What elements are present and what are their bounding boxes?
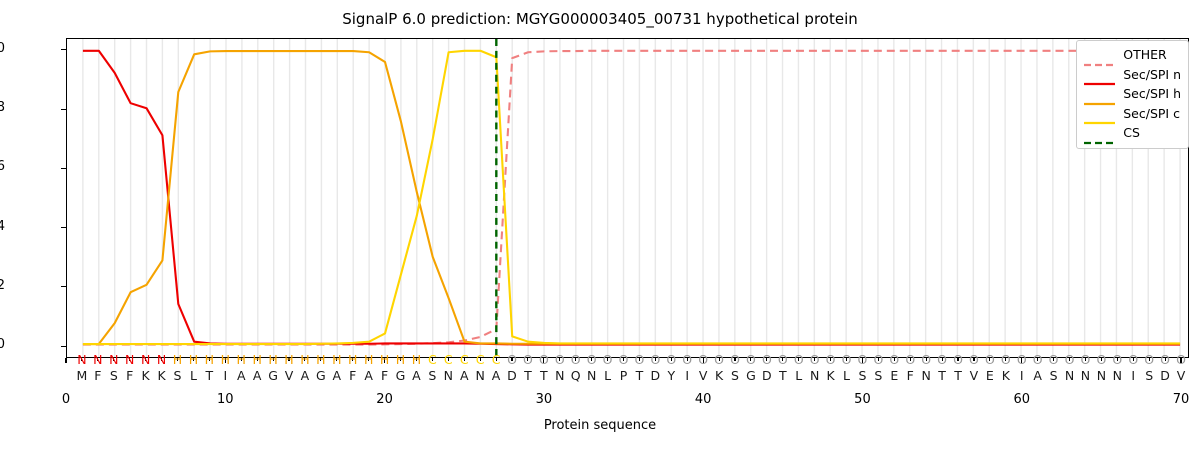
region-annotation-letter: O <box>682 352 692 368</box>
region-annotation-letter: H <box>364 352 373 368</box>
sequence-letter: D <box>1160 368 1170 384</box>
sequence-letter: A <box>460 368 469 384</box>
region-annotation-letter: O <box>889 352 899 368</box>
sequence-letter: N <box>1113 368 1122 384</box>
sequence-letter: S <box>428 368 436 384</box>
sequence-letter: K <box>715 368 723 384</box>
sequence-letter: L <box>190 368 197 384</box>
region-annotation-letter: H <box>173 352 182 368</box>
sequence-letter: N <box>444 368 453 384</box>
y-tick-label: 0.4 <box>0 219 5 234</box>
region-annotation-letter: O <box>666 352 676 368</box>
x-tick-label: 20 <box>376 392 393 407</box>
sequence-letter: V <box>1177 368 1186 384</box>
region-annotation-letter: N <box>125 352 134 368</box>
region-annotation-letter: C <box>460 352 469 368</box>
region-annotation-letter: C <box>476 352 485 368</box>
sequence-letter: G <box>316 368 326 384</box>
y-tick-label: 0.0 <box>0 337 5 352</box>
region-annotation-letter: H <box>380 352 389 368</box>
sequence-letter: T <box>540 368 548 384</box>
sequence-letter: K <box>157 368 165 384</box>
region-annotation-letter: H <box>189 352 198 368</box>
sequence-letter: G <box>396 368 406 384</box>
sequence-letter: N <box>555 368 564 384</box>
region-annotation-letter: O <box>1144 352 1154 368</box>
y-tick-mark <box>61 109 66 110</box>
sequence-letter: G <box>746 368 756 384</box>
region-annotation-letter: O <box>826 352 836 368</box>
y-tick-label: 1.0 <box>0 41 5 56</box>
sequence-letter: E <box>986 368 994 384</box>
region-annotation-letter: O <box>587 352 597 368</box>
sequence-letter: A <box>333 368 342 384</box>
sequence-letter: A <box>253 368 262 384</box>
y-tick-label: 0.8 <box>0 100 5 115</box>
region-annotation-letter: O <box>555 352 565 368</box>
region-annotation-letter: O <box>603 352 613 368</box>
chart-title: SignalP 6.0 prediction: MGYG000003405_00… <box>0 10 1200 28</box>
region-annotation-letter: O <box>842 352 852 368</box>
region-annotation-letter: H <box>221 352 230 368</box>
region-annotation-letter: O <box>571 352 581 368</box>
sequence-letter: N <box>1081 368 1090 384</box>
sequence-letter: N <box>921 368 930 384</box>
region-annotation-letter: O <box>635 352 645 368</box>
y-tick-mark <box>61 49 66 50</box>
sequence-letter: S <box>110 368 118 384</box>
region-annotation-letter: H <box>412 352 421 368</box>
x-axis-label: Protein sequence <box>0 418 1200 433</box>
region-annotation-letter: O <box>810 352 820 368</box>
region-annotation-letter: C <box>492 352 501 368</box>
sequence-letter: I <box>1020 368 1024 384</box>
region-annotation-letter: H <box>284 352 293 368</box>
region-annotation-letter: O <box>539 352 549 368</box>
sequence-letter: I <box>685 368 689 384</box>
sequence-letter: A <box>237 368 246 384</box>
sequence-letter: T <box>779 368 787 384</box>
region-annotation-letter: H <box>300 352 309 368</box>
sequence-letter: S <box>858 368 866 384</box>
sequence-letter: F <box>907 368 914 384</box>
sequence-letter: N <box>587 368 596 384</box>
region-annotation-letter: N <box>77 352 86 368</box>
region-annotation-letter: O <box>873 352 883 368</box>
y-tick-mark <box>61 168 66 169</box>
region-annotation-letter: N <box>157 352 166 368</box>
region-annotation-letter: O <box>650 352 660 368</box>
sequence-letter: A <box>1033 368 1042 384</box>
sequence-letter: S <box>1145 368 1153 384</box>
region-annotation-letter: O <box>1033 352 1043 368</box>
sequence-letter: T <box>206 368 214 384</box>
region-annotation-letter: O <box>1017 352 1027 368</box>
region-annotation-letter: O <box>746 352 756 368</box>
region-annotation-letter: H <box>205 352 214 368</box>
y-tick-label: 0.2 <box>0 278 5 293</box>
legend-label: OTHER <box>1123 47 1166 62</box>
region-annotation-letter: O <box>1176 352 1186 368</box>
region-annotation-letter: H <box>348 352 357 368</box>
region-annotation-letter: H <box>252 352 261 368</box>
region-annotation-letter: O <box>523 352 533 368</box>
sequence-letter: N <box>1065 368 1074 384</box>
y-tick-mark <box>61 346 66 347</box>
region-annotation-letter: O <box>762 352 772 368</box>
region-annotation-letter: O <box>778 352 788 368</box>
sequence-letter: K <box>826 368 834 384</box>
sequence-letter: T <box>938 368 946 384</box>
region-annotation-letter: O <box>794 352 804 368</box>
sequence-letter: F <box>126 368 133 384</box>
series-layer <box>83 51 1180 345</box>
sequence-letter: A <box>412 368 421 384</box>
sequence-letter: S <box>874 368 882 384</box>
region-annotation-letter: O <box>953 352 963 368</box>
sequence-letter: T <box>954 368 962 384</box>
legend-label: CS <box>1123 125 1140 140</box>
region-annotation-letter: O <box>1096 352 1106 368</box>
sequence-letter: F <box>381 368 388 384</box>
region-annotation-letter: H <box>237 352 246 368</box>
plot-area <box>66 38 1189 358</box>
x-tick-label: 0 <box>62 392 70 407</box>
sequence-letter: N <box>475 368 484 384</box>
region-annotation-letter: O <box>507 352 517 368</box>
legend-label: Sec/SPI n <box>1123 67 1181 82</box>
region-annotation-letter: O <box>985 352 995 368</box>
x-tick-label: 60 <box>1013 392 1030 407</box>
plot-canvas <box>67 39 1188 357</box>
y-tick-label: 0.6 <box>0 159 5 174</box>
sequence-letter: F <box>94 368 101 384</box>
x-tick-label: 40 <box>695 392 712 407</box>
x-tick-label: 30 <box>536 392 553 407</box>
region-annotation-letter: N <box>93 352 102 368</box>
region-annotation-letter: H <box>268 352 277 368</box>
region-annotation-letter: N <box>141 352 150 368</box>
region-annotation-row: NNNNNNHHHHHHHHHHHHHHHHCCCCCOOOOOOOOOOOOO… <box>0 352 1200 368</box>
sequence-letter: L <box>795 368 802 384</box>
sequence-letter: M <box>77 368 88 384</box>
sequence-letter: I <box>1131 368 1135 384</box>
y-tick-mark <box>61 227 66 228</box>
region-annotation-letter: O <box>969 352 979 368</box>
sequence-letter: S <box>1050 368 1058 384</box>
x-tick-label: 70 <box>1173 392 1190 407</box>
amino-acid-sequence-row: MFSFKKSLTIAAGVAGAFAFGASNANADTTNQNLPTDYIV… <box>0 368 1200 384</box>
sequence-letter: G <box>268 368 278 384</box>
sequence-letter: A <box>492 368 501 384</box>
sequence-letter: V <box>285 368 294 384</box>
region-annotation-letter: H <box>332 352 341 368</box>
sequence-letter: S <box>174 368 182 384</box>
sequence-letter: A <box>301 368 310 384</box>
sequence-letter: N <box>1097 368 1106 384</box>
sequence-letter: L <box>843 368 850 384</box>
legend-label: Sec/SPI c <box>1123 106 1180 121</box>
sequence-letter: N <box>810 368 819 384</box>
region-annotation-letter: O <box>1049 352 1059 368</box>
region-annotation-letter: O <box>730 352 740 368</box>
region-annotation-letter: O <box>1065 352 1075 368</box>
y-tick-mark <box>61 286 66 287</box>
region-annotation-letter: O <box>937 352 947 368</box>
region-annotation-letter: O <box>1081 352 1091 368</box>
series-line-sec-spi-h <box>83 51 1180 344</box>
sequence-letter: A <box>364 368 373 384</box>
series-line-other <box>83 51 1180 345</box>
sequence-letter: Y <box>667 368 675 384</box>
legend: OTHERSec/SPI nSec/SPI hSec/SPI cCS <box>1076 40 1189 149</box>
region-annotation-letter: O <box>1160 352 1170 368</box>
region-annotation-letter: O <box>698 352 708 368</box>
legend-label: Sec/SPI h <box>1123 86 1181 101</box>
sequence-letter: P <box>620 368 628 384</box>
sequence-letter: D <box>762 368 772 384</box>
sequence-letter: V <box>970 368 979 384</box>
sequence-letter: L <box>604 368 611 384</box>
sequence-letter: D <box>651 368 661 384</box>
region-annotation-letter: C <box>444 352 453 368</box>
region-annotation-letter: O <box>921 352 931 368</box>
region-annotation-letter: N <box>109 352 118 368</box>
sequence-letter: D <box>507 368 517 384</box>
region-annotation-letter: O <box>714 352 724 368</box>
region-annotation-letter: O <box>619 352 629 368</box>
sequence-letter: E <box>890 368 898 384</box>
series-line-sec-spi-c <box>83 51 1180 344</box>
signalp-prediction-figure: SignalP 6.0 prediction: MGYG000003405_00… <box>0 0 1200 450</box>
region-annotation-letter: H <box>316 352 325 368</box>
region-annotation-letter: C <box>428 352 437 368</box>
gridlines <box>83 39 1180 357</box>
sequence-letter: S <box>731 368 739 384</box>
region-annotation-letter: O <box>905 352 915 368</box>
x-tick-label: 10 <box>217 392 234 407</box>
sequence-letter: Q <box>571 368 581 384</box>
sequence-letter: T <box>524 368 532 384</box>
region-annotation-letter: O <box>1112 352 1122 368</box>
sequence-letter: K <box>142 368 150 384</box>
sequence-letter: K <box>1002 368 1010 384</box>
series-line-sec-spi-n <box>83 51 1180 345</box>
region-annotation-letter: H <box>396 352 405 368</box>
region-annotation-letter: O <box>1001 352 1011 368</box>
x-tick-label: 50 <box>854 392 871 407</box>
region-annotation-letter: O <box>858 352 868 368</box>
legend-item[interactable]: OTHER <box>1083 45 1181 65</box>
sequence-letter: I <box>223 368 227 384</box>
sequence-letter: T <box>636 368 644 384</box>
sequence-letter: F <box>349 368 356 384</box>
region-annotation-letter: O <box>1128 352 1138 368</box>
sequence-letter: V <box>699 368 708 384</box>
